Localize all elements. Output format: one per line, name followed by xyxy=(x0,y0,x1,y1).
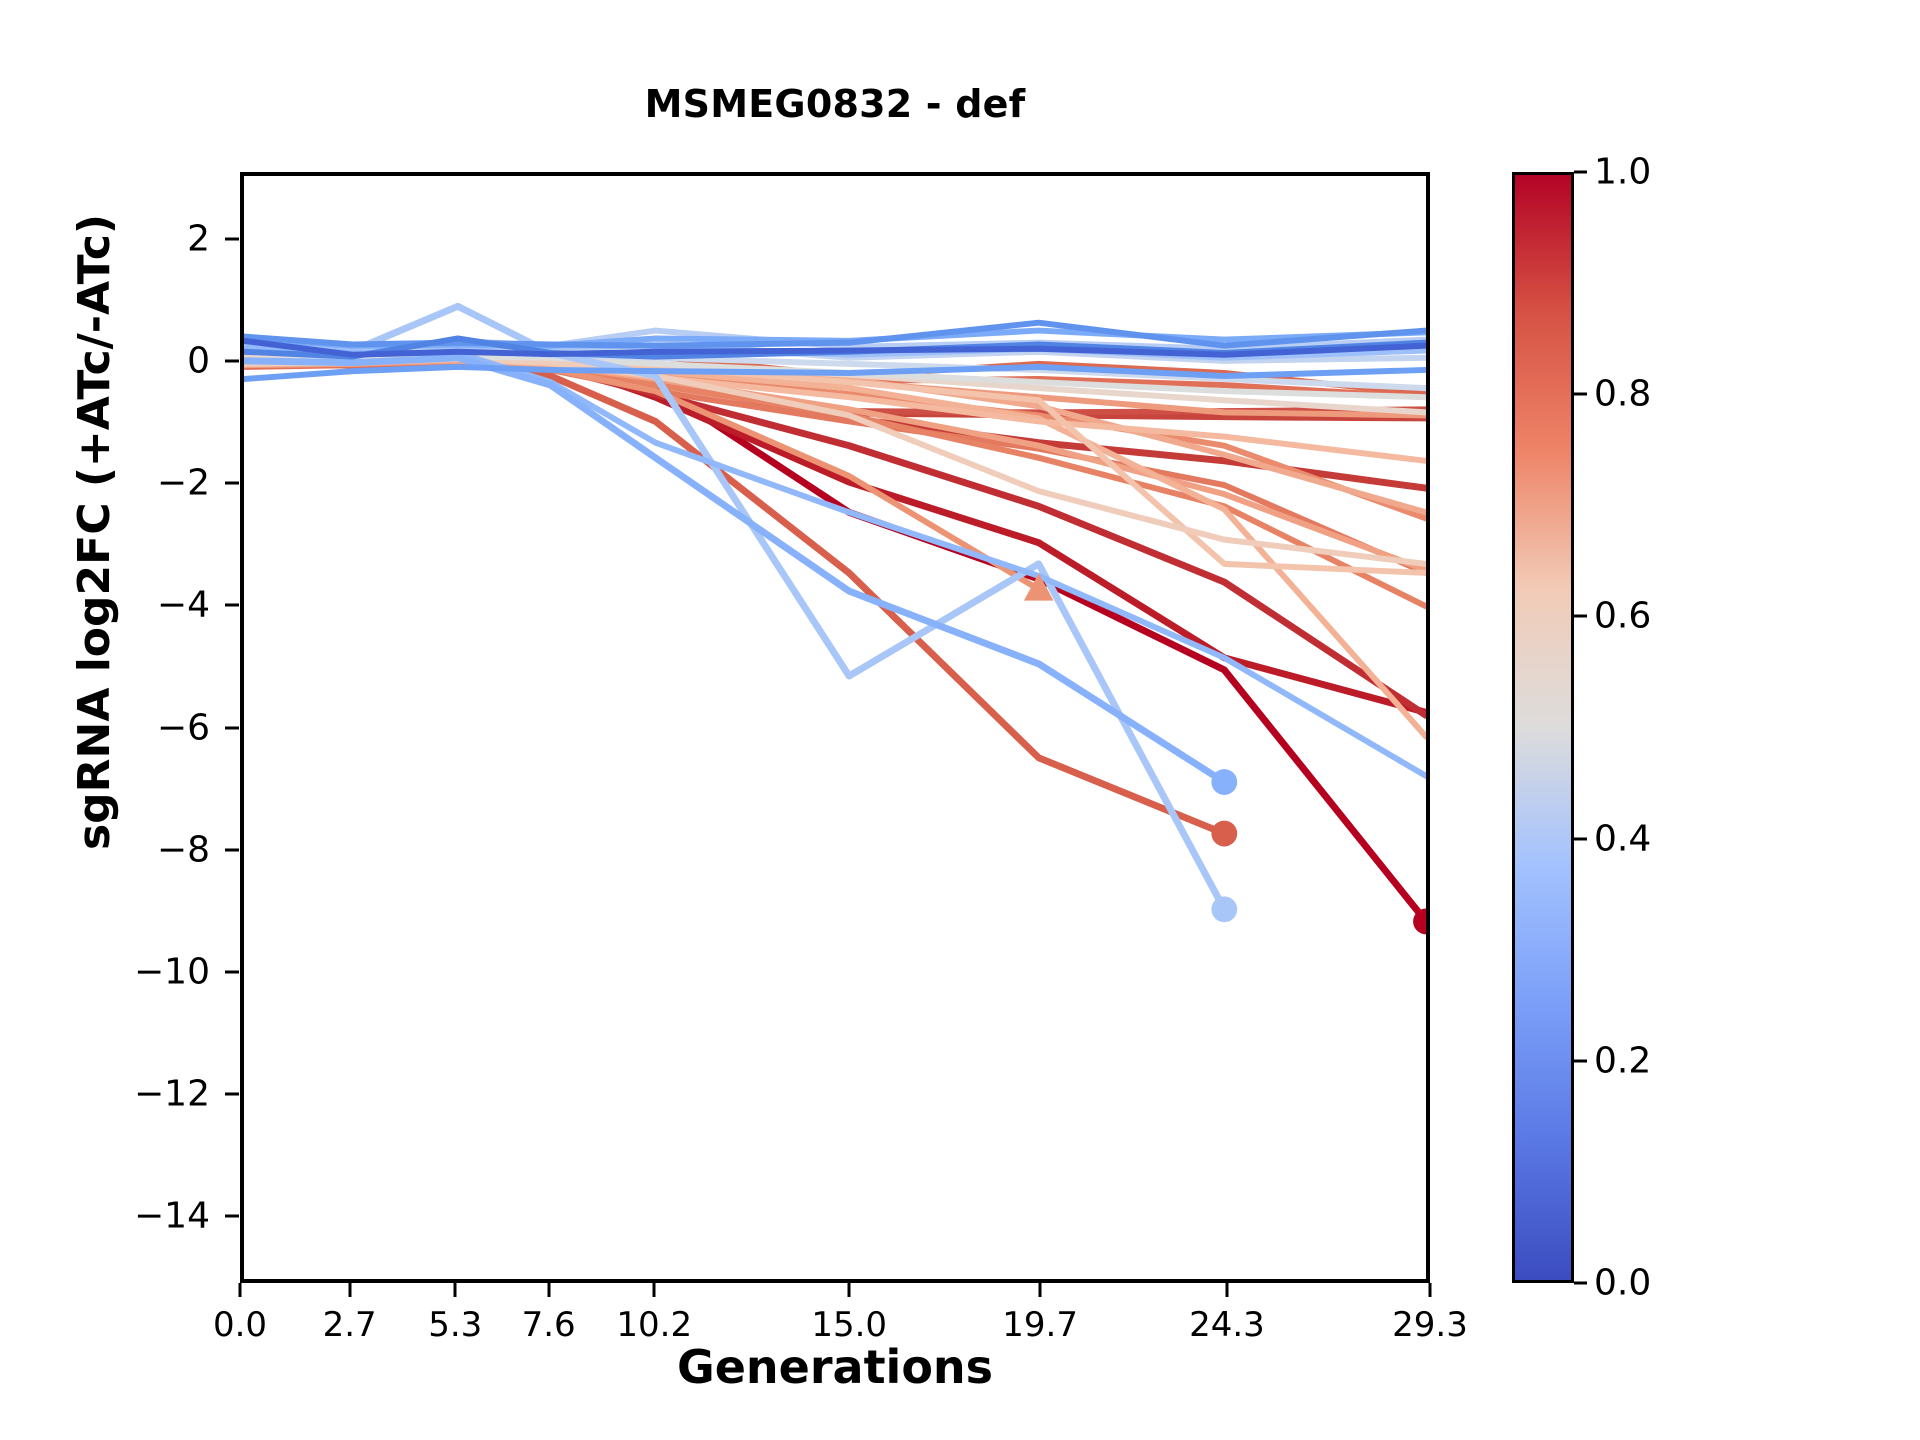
x-axis-label: Generations xyxy=(240,1340,1430,1394)
colorbar-tick-label: 0.0 xyxy=(1594,1263,1651,1304)
chart-title: MSMEG0832 - def xyxy=(240,82,1430,126)
endpoint-markers-group xyxy=(1024,573,1426,934)
y-tick-label: −6 xyxy=(70,707,210,748)
endpoint-marker-circle xyxy=(1211,821,1237,847)
colorbar-tick-mark xyxy=(1574,1059,1587,1062)
x-tick-mark xyxy=(1429,1283,1432,1297)
x-tick-label: 15.0 xyxy=(811,1305,887,1345)
x-tick-label: 5.3 xyxy=(428,1305,482,1345)
y-tick-label: −2 xyxy=(70,463,210,504)
colorbar-tick-mark xyxy=(1574,837,1587,840)
colorbar-tick-label: 0.2 xyxy=(1594,1040,1651,1081)
colorbar-tick-label: 1.0 xyxy=(1594,152,1651,193)
y-tick-mark xyxy=(225,238,239,241)
colorbar-tick-mark xyxy=(1574,171,1587,174)
figure-root: MSMEG0832 - def sgRNA log2FC (+ATc/-ATc)… xyxy=(0,0,1920,1440)
colorbar[interactable]: 0.00.20.40.60.81.0 xyxy=(1512,172,1574,1283)
y-tick-mark xyxy=(225,848,239,851)
y-tick-label: −12 xyxy=(70,1073,210,1114)
x-tick-mark xyxy=(1039,1283,1042,1297)
x-tick-mark xyxy=(239,1283,242,1297)
line-chart-svg xyxy=(244,176,1426,1279)
x-tick-label: 7.6 xyxy=(522,1305,576,1345)
colorbar-tick-mark xyxy=(1574,615,1587,618)
endpoint-marker-circle xyxy=(1211,896,1237,922)
x-tick-mark xyxy=(547,1283,550,1297)
y-tick-mark xyxy=(225,360,239,363)
x-tick-label: 2.7 xyxy=(323,1305,377,1345)
endpoint-marker-circle xyxy=(1211,769,1237,795)
colorbar-tick-label: 0.6 xyxy=(1594,596,1651,637)
colorbar-tick-mark xyxy=(1574,393,1587,396)
x-tick-mark xyxy=(1225,1283,1228,1297)
x-tick-mark xyxy=(848,1283,851,1297)
y-tick-mark xyxy=(225,1214,239,1217)
y-axis-label: sgRNA log2FC (+ATc/-ATc) xyxy=(69,214,120,850)
y-tick-mark xyxy=(225,604,239,607)
y-tick-mark xyxy=(225,482,239,485)
x-tick-mark xyxy=(653,1283,656,1297)
x-tick-label: 24.3 xyxy=(1189,1305,1265,1345)
x-tick-mark xyxy=(454,1283,457,1297)
x-tick-mark xyxy=(348,1283,351,1297)
colorbar-tick-mark xyxy=(1574,1282,1587,1285)
y-tick-label: 0 xyxy=(70,341,210,382)
colorbar-tick-label: 0.8 xyxy=(1594,374,1651,415)
y-tick-label: 2 xyxy=(70,219,210,260)
y-tick-label: −4 xyxy=(70,585,210,626)
colorbar-gradient xyxy=(1512,172,1574,1283)
x-tick-label: 29.3 xyxy=(1392,1305,1468,1345)
y-axis-label-wrap: sgRNA log2FC (+ATc/-ATc) xyxy=(64,32,124,1032)
x-tick-label: 10.2 xyxy=(616,1305,692,1345)
y-tick-label: −14 xyxy=(70,1195,210,1236)
x-tick-label: 0.0 xyxy=(213,1305,267,1345)
y-tick-mark xyxy=(225,726,239,729)
y-tick-mark xyxy=(225,970,239,973)
plot-area xyxy=(240,172,1430,1283)
series-lines-group xyxy=(244,306,1426,921)
x-tick-label: 19.7 xyxy=(1002,1305,1078,1345)
y-tick-label: −8 xyxy=(70,829,210,870)
colorbar-tick-label: 0.4 xyxy=(1594,818,1651,859)
y-tick-label: −10 xyxy=(70,951,210,992)
y-tick-mark xyxy=(225,1092,239,1095)
